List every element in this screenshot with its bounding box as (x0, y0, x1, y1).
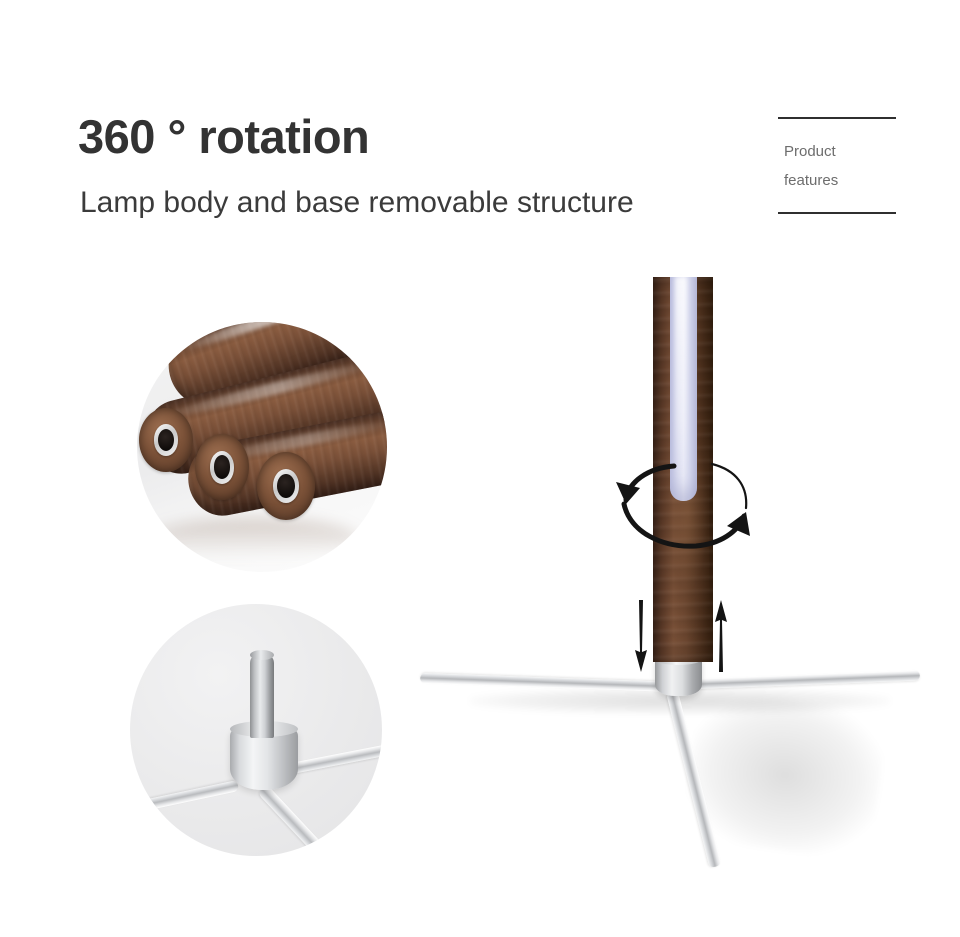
detach-arrow-down (628, 600, 654, 672)
tag-label-line1: Product (784, 137, 896, 166)
inset-wood-tubes (137, 322, 387, 572)
product-features-tag: Product features (778, 117, 896, 214)
hub-leg-left (130, 780, 239, 818)
base-hub (655, 658, 702, 696)
detach-arrow-up (708, 600, 734, 672)
tube-reflection (149, 518, 359, 558)
wood-tube-end-right (257, 452, 315, 520)
wood-tube-end-left (139, 408, 193, 472)
hub-pin (250, 654, 274, 738)
wood-tube-end-middle (195, 434, 249, 500)
page-subheadline: Lamp body and base removable structure (80, 186, 634, 219)
hub-leg-front (257, 784, 354, 856)
inset-tripod-hub (130, 604, 382, 856)
tag-label-line2: features (784, 166, 896, 195)
page-headline: 360 ° rotation (78, 112, 369, 161)
tag-label: Product features (778, 119, 896, 212)
tag-rule-bottom (778, 212, 896, 214)
rotation-arrows (596, 448, 776, 568)
product-feature-page: 360 ° rotation Lamp body and base remova… (0, 0, 960, 937)
